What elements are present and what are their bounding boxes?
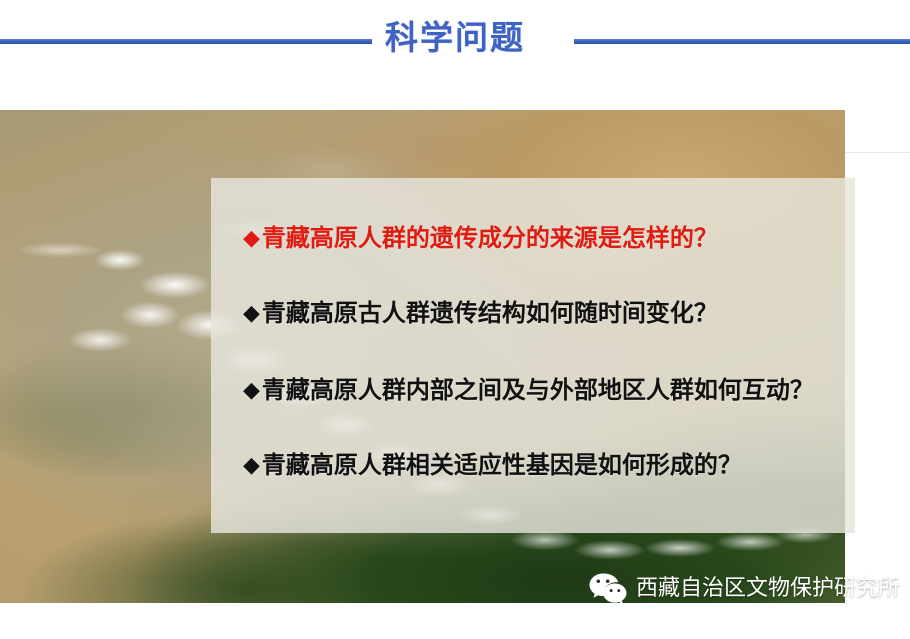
watermark-label: 西藏自治区文物保护研究所 bbox=[636, 575, 900, 603]
list-item: ◆青藏高原古人群遗传结构如何随时间变化？ bbox=[243, 298, 718, 329]
slide-seam-line bbox=[845, 152, 910, 153]
list-item-label: 青藏高原人群相关适应性基因是如何形成的？ bbox=[262, 451, 742, 479]
diamond-bullet-icon: ◆ bbox=[243, 226, 260, 251]
page-title: 科学问题 bbox=[0, 14, 910, 62]
slide-bottom-margin bbox=[0, 603, 910, 639]
diamond-bullet-icon: ◆ bbox=[243, 301, 260, 326]
question-panel: ◆青藏高原人群的遗传成分的来源是怎样的？ ◆青藏高原古人群遗传结构如何随时间变化… bbox=[211, 178, 855, 533]
diamond-bullet-icon: ◆ bbox=[243, 453, 260, 478]
list-item: ◆青藏高原人群的遗传成分的来源是怎样的？ bbox=[243, 223, 718, 254]
presentation-slide: 科学问题 ◆青藏高原人群的遗传成分的来源是怎样的？ ◆青藏高原古人群遗传结构如何… bbox=[0, 0, 910, 639]
question-list: ◆青藏高原人群的遗传成分的来源是怎样的？ ◆青藏高原古人群遗传结构如何随时间变化… bbox=[211, 178, 855, 533]
slide-header: 科学问题 bbox=[0, 0, 910, 110]
list-item-label: 青藏高原人群的遗传成分的来源是怎样的？ bbox=[262, 224, 718, 252]
list-item-label: 青藏高原人群内部之间及与外部地区人群如何互动？ bbox=[262, 376, 814, 404]
diamond-bullet-icon: ◆ bbox=[243, 378, 260, 403]
list-item: ◆青藏高原人群内部之间及与外部地区人群如何互动？ bbox=[243, 375, 814, 406]
list-item-label: 青藏高原古人群遗传结构如何随时间变化？ bbox=[262, 299, 718, 327]
list-item: ◆青藏高原人群相关适应性基因是如何形成的？ bbox=[243, 450, 742, 481]
wechat-watermark: 西藏自治区文物保护研究所 bbox=[588, 572, 900, 606]
wechat-icon bbox=[588, 572, 628, 606]
